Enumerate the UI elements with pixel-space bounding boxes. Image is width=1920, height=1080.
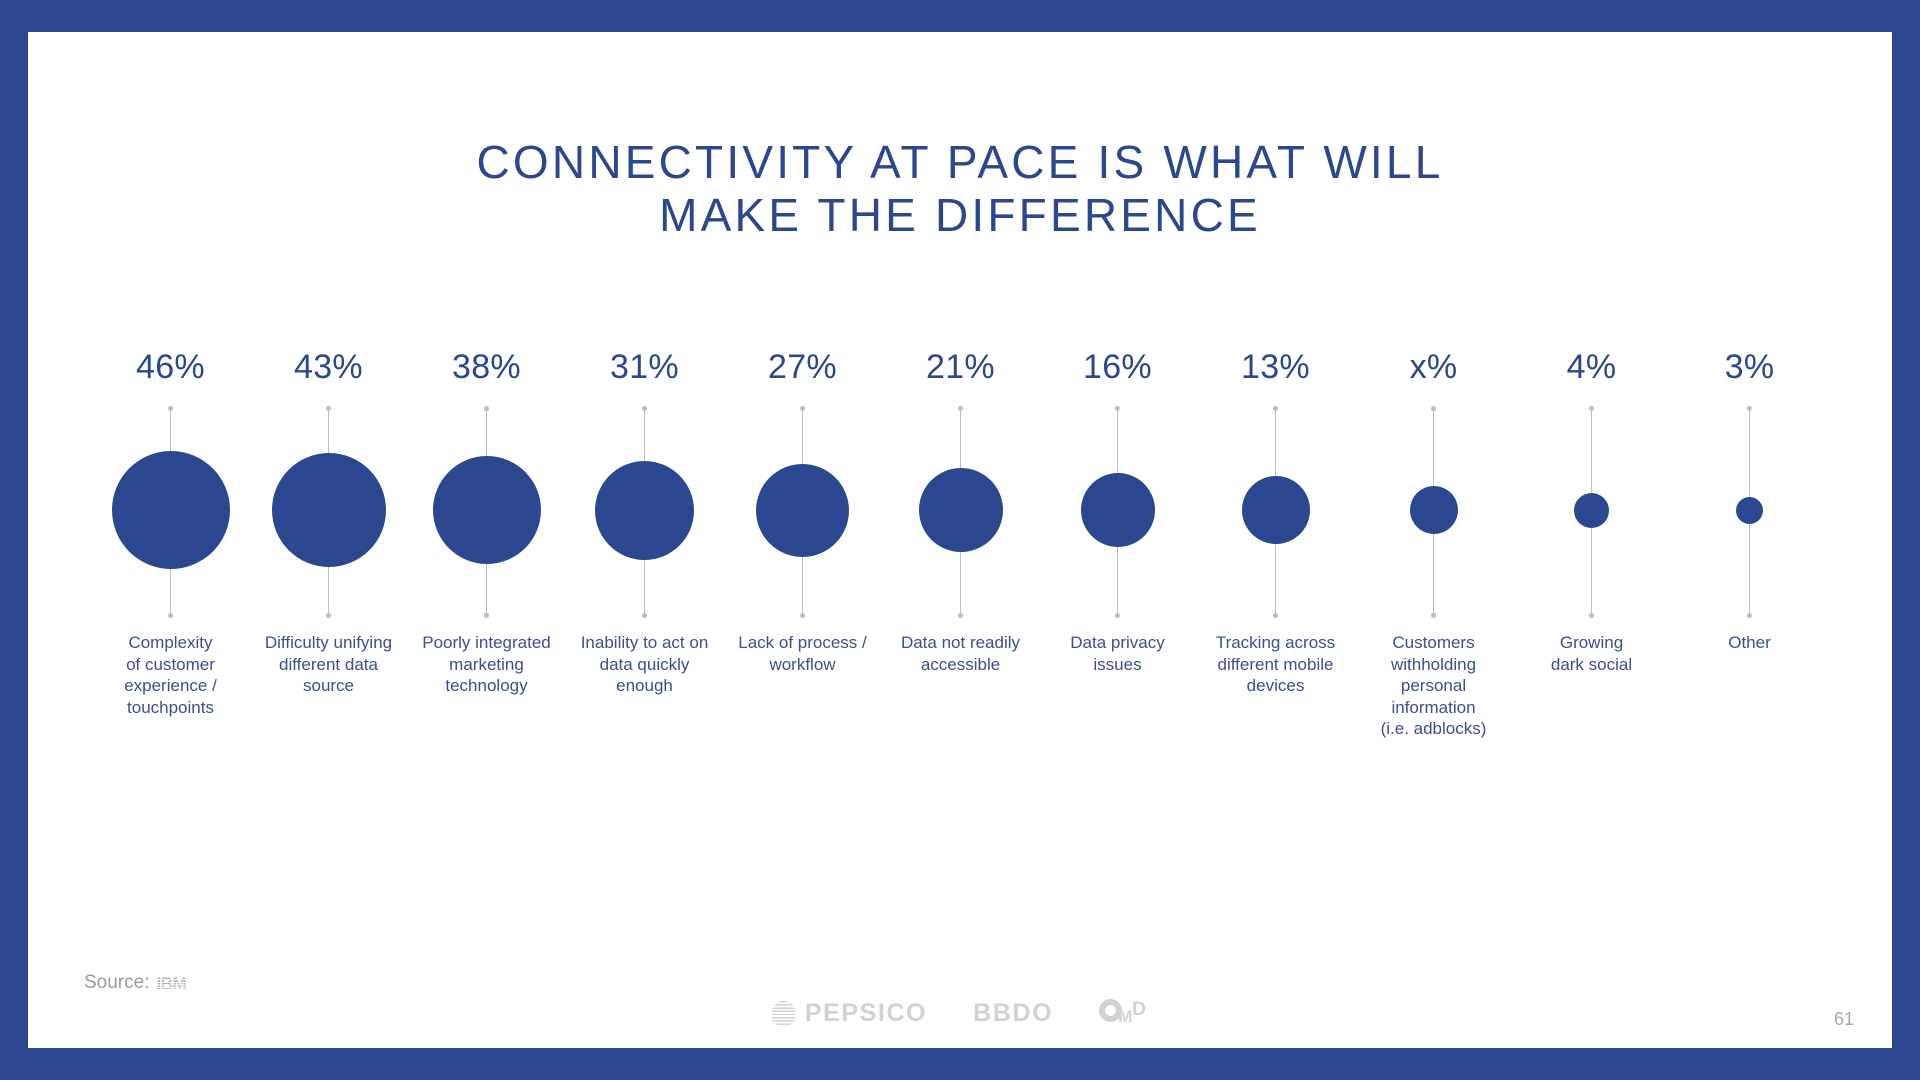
page-title-line-1: CONNECTIVITY AT PACE IS WHAT WILL bbox=[328, 136, 1592, 189]
source-label: Source: bbox=[84, 972, 149, 994]
bubble-caption-line: accessible bbox=[872, 654, 1049, 676]
bubble-chart: 46%Complexityof customerexperience /touc… bbox=[88, 350, 1832, 820]
bubble-caption: Other bbox=[1661, 632, 1838, 654]
bubble-caption: Poorly integratedmarketingtechnology bbox=[398, 632, 575, 697]
footer-logos: PEPSICOBBDOMD bbox=[28, 998, 1892, 1029]
bubble-marker[interactable] bbox=[1574, 493, 1609, 528]
bubble-caption: Complexityof customerexperience /touchpo… bbox=[82, 632, 259, 718]
bubble-caption-line: Difficulty unifying bbox=[240, 632, 417, 654]
bubble-caption-line: marketing bbox=[398, 654, 575, 676]
ibm-logo: IBM bbox=[156, 975, 194, 992]
bubble-marker[interactable] bbox=[756, 464, 849, 557]
bubble-column: 27%Lack of process /workflow bbox=[720, 350, 885, 820]
bubble-caption-line: dark social bbox=[1503, 654, 1680, 676]
bubble-caption-line: Inability to act on bbox=[556, 632, 733, 654]
bubble-caption: Difficulty unifyingdifferent datasource bbox=[240, 632, 417, 697]
bubble-caption-line: Complexity bbox=[82, 632, 259, 654]
bubble-marker[interactable] bbox=[272, 453, 386, 567]
bubble-column: 38%Poorly integratedmarketingtechnology bbox=[404, 350, 569, 820]
bubble-caption-line: touchpoints bbox=[82, 697, 259, 719]
bubble-column: 13%Tracking acrossdifferent mobiledevice… bbox=[1193, 350, 1358, 820]
bubble-caption-line: personal bbox=[1345, 675, 1522, 697]
connector-dot-bottom-icon bbox=[1589, 613, 1594, 618]
omd-logo: MD bbox=[1099, 998, 1149, 1029]
bubble-marker[interactable] bbox=[1736, 497, 1763, 524]
source-attribution: Source: IBM bbox=[84, 972, 194, 994]
bubble-marker[interactable] bbox=[1410, 486, 1458, 534]
bubble-value-label: 43% bbox=[246, 350, 411, 384]
bubble-caption-line: (i.e. adblocks) bbox=[1345, 718, 1522, 740]
bubble-marker[interactable] bbox=[1242, 476, 1310, 544]
bubble-caption-line: different data bbox=[240, 654, 417, 676]
bubble-caption-line: different mobile bbox=[1187, 654, 1364, 676]
bubble-caption-line: Customers bbox=[1345, 632, 1522, 654]
bubble-caption-line: technology bbox=[398, 675, 575, 697]
connector-dot-bottom-icon bbox=[326, 613, 331, 618]
bubble-column: 43%Difficulty unifyingdifferent datasour… bbox=[246, 350, 411, 820]
bubble-caption-line: workflow bbox=[714, 654, 891, 676]
bubble-caption-line: data quickly bbox=[556, 654, 733, 676]
bubble-caption-line: withholding bbox=[1345, 654, 1522, 676]
bubble-caption-line: of customer bbox=[82, 654, 259, 676]
bubble-caption-line: Growing bbox=[1503, 632, 1680, 654]
page-number: 61 bbox=[1834, 1009, 1854, 1030]
bubble-column: 21%Data not readilyaccessible bbox=[878, 350, 1043, 820]
bubble-marker[interactable] bbox=[433, 456, 541, 564]
bubble-caption-line: Tracking across bbox=[1187, 632, 1364, 654]
bubble-caption: Customerswithholdingpersonalinformation(… bbox=[1345, 632, 1522, 740]
bubble-column: 46%Complexityof customerexperience /touc… bbox=[88, 350, 253, 820]
bubble-caption-line: Data privacy bbox=[1029, 632, 1206, 654]
connector-dot-bottom-icon bbox=[800, 613, 805, 618]
bbdo-logo-text: BBDO bbox=[973, 999, 1053, 1028]
bubble-column: 3%Other bbox=[1667, 350, 1832, 820]
bubble-caption-line: Data not readily bbox=[872, 632, 1049, 654]
bubble-caption-line: source bbox=[240, 675, 417, 697]
bubble-marker[interactable] bbox=[595, 461, 694, 560]
bubble-value-label: 13% bbox=[1193, 350, 1358, 384]
page-title: CONNECTIVITY AT PACE IS WHAT WILL MAKE T… bbox=[328, 136, 1592, 243]
bubble-marker[interactable] bbox=[112, 451, 230, 569]
omd-m-letter: M bbox=[1118, 1008, 1132, 1025]
bubble-column: 31%Inability to act ondata quicklyenough bbox=[562, 350, 727, 820]
slide-canvas: CONNECTIVITY AT PACE IS WHAT WILL MAKE T… bbox=[28, 32, 1892, 1048]
bbdo-logo: BBDO bbox=[973, 999, 1053, 1028]
connector-dot-bottom-icon bbox=[1273, 613, 1278, 618]
bubble-marker[interactable] bbox=[919, 468, 1003, 552]
bubble-value-label: 27% bbox=[720, 350, 885, 384]
bubble-caption: Lack of process /workflow bbox=[714, 632, 891, 675]
bubble-value-label: 4% bbox=[1509, 350, 1674, 384]
bubble-caption: Data not readilyaccessible bbox=[872, 632, 1049, 675]
omd-d-letter: D bbox=[1132, 1000, 1146, 1019]
page-title-line-2: MAKE THE DIFFERENCE bbox=[328, 189, 1592, 242]
globe-icon bbox=[771, 1001, 796, 1027]
bubble-caption-line: Poorly integrated bbox=[398, 632, 575, 654]
bubble-caption: Data privacyissues bbox=[1029, 632, 1206, 675]
bubble-caption-line: experience / bbox=[82, 675, 259, 697]
bubble-column: 16%Data privacyissues bbox=[1035, 350, 1200, 820]
connector-dot-bottom-icon bbox=[642, 613, 647, 618]
bubble-caption: Growingdark social bbox=[1503, 632, 1680, 675]
connector-dot-bottom-icon bbox=[484, 613, 489, 618]
pepsico-logo: PEPSICO bbox=[771, 999, 927, 1028]
connector-dot-bottom-icon bbox=[1431, 613, 1436, 618]
bubble-column: 4%Growingdark social bbox=[1509, 350, 1674, 820]
omd-mark-icon: MD bbox=[1099, 998, 1149, 1029]
bubble-marker[interactable] bbox=[1081, 473, 1155, 547]
connector-dot-bottom-icon bbox=[1747, 613, 1752, 618]
connector-dot-bottom-icon bbox=[958, 613, 963, 618]
bubble-caption-line: enough bbox=[556, 675, 733, 697]
bubble-value-label: 38% bbox=[404, 350, 569, 384]
pepsico-logo-text: PEPSICO bbox=[805, 999, 927, 1028]
bubble-caption: Tracking acrossdifferent mobiledevices bbox=[1187, 632, 1364, 697]
bubble-value-label: 46% bbox=[88, 350, 253, 384]
bubble-value-label: 3% bbox=[1667, 350, 1832, 384]
bubble-caption-line: issues bbox=[1029, 654, 1206, 676]
bubble-caption-line: information bbox=[1345, 697, 1522, 719]
bubble-value-label: 16% bbox=[1035, 350, 1200, 384]
bubble-value-label: x% bbox=[1351, 350, 1516, 384]
bubble-value-label: 21% bbox=[878, 350, 1043, 384]
bubble-caption-line: Lack of process / bbox=[714, 632, 891, 654]
ibm-logo-text: IBM bbox=[156, 975, 194, 992]
bubble-column: x%Customerswithholdingpersonalinformatio… bbox=[1351, 350, 1516, 820]
connector-dot-bottom-icon bbox=[168, 613, 173, 618]
connector-dot-bottom-icon bbox=[1115, 613, 1120, 618]
bubble-value-label: 31% bbox=[562, 350, 727, 384]
bubble-caption: Inability to act ondata quicklyenough bbox=[556, 632, 733, 697]
bubble-caption-line: devices bbox=[1187, 675, 1364, 697]
bubble-caption-line: Other bbox=[1661, 632, 1838, 654]
